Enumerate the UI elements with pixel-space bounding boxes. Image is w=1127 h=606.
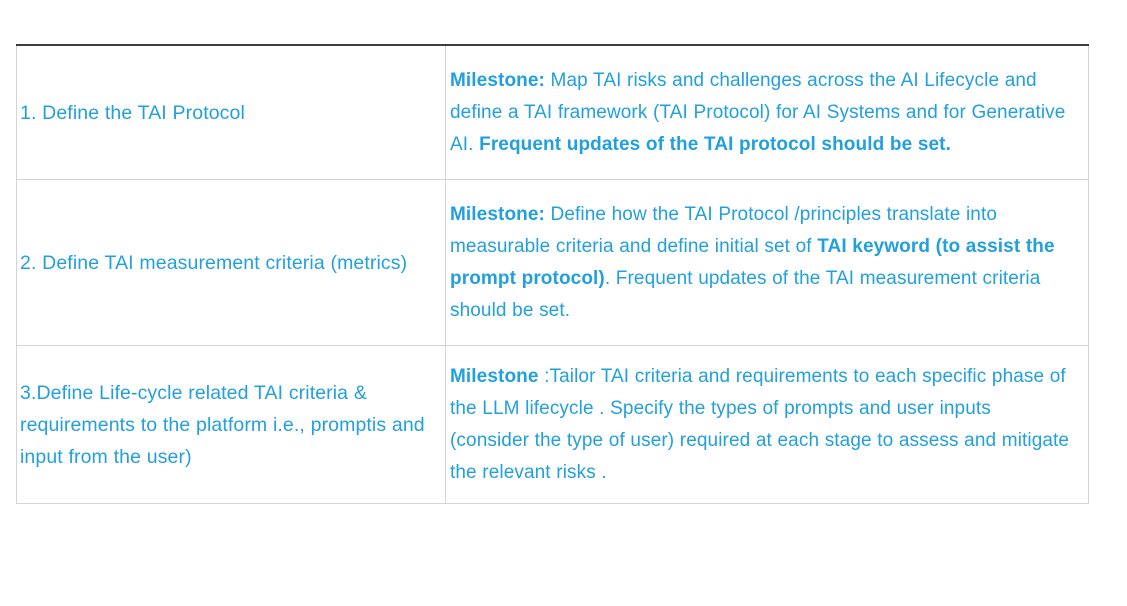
milestone-text: Milestone: Define how the TAI Protocol /… [446, 199, 1088, 327]
milestone-text: Milestone: Map TAI risks and challenges … [446, 65, 1088, 161]
milestone-label: Milestone [450, 366, 539, 387]
table-row: 3.Define Life-cycle related TAI criteria… [17, 346, 1089, 504]
step-text: 1. Define the TAI Protocol [17, 97, 445, 129]
table-cell-step: 3.Define Life-cycle related TAI criteria… [17, 346, 446, 504]
step-text: 3.Define Life-cycle related TAI criteria… [17, 377, 445, 473]
milestone-body-before: :Tailor TAI criteria and requirements to… [450, 366, 1069, 483]
document-page: 1. Define the TAI Protocol Milestone: Ma… [0, 0, 1127, 606]
table-cell-milestone: Milestone :Tailor TAI criteria and requi… [446, 346, 1089, 504]
table-body: 1. Define the TAI Protocol Milestone: Ma… [17, 45, 1089, 504]
table-cell-step: 2. Define TAI measurement criteria (metr… [17, 180, 446, 346]
milestone-emphasis: Frequent updates of the TAI protocol sho… [479, 134, 951, 155]
milestone-label: Milestone: [450, 204, 545, 225]
milestone-label: Milestone: [450, 70, 545, 91]
table-cell-milestone: Milestone: Map TAI risks and challenges … [446, 45, 1089, 180]
milestone-text: Milestone :Tailor TAI criteria and requi… [446, 361, 1088, 489]
table-cell-milestone: Milestone: Define how the TAI Protocol /… [446, 180, 1089, 346]
tai-protocol-table: 1. Define the TAI Protocol Milestone: Ma… [16, 44, 1089, 504]
step-text: 2. Define TAI measurement criteria (metr… [17, 247, 445, 279]
table-row: 1. Define the TAI Protocol Milestone: Ma… [17, 45, 1089, 180]
table-row: 2. Define TAI measurement criteria (metr… [17, 180, 1089, 346]
table-cell-step: 1. Define the TAI Protocol [17, 45, 446, 180]
